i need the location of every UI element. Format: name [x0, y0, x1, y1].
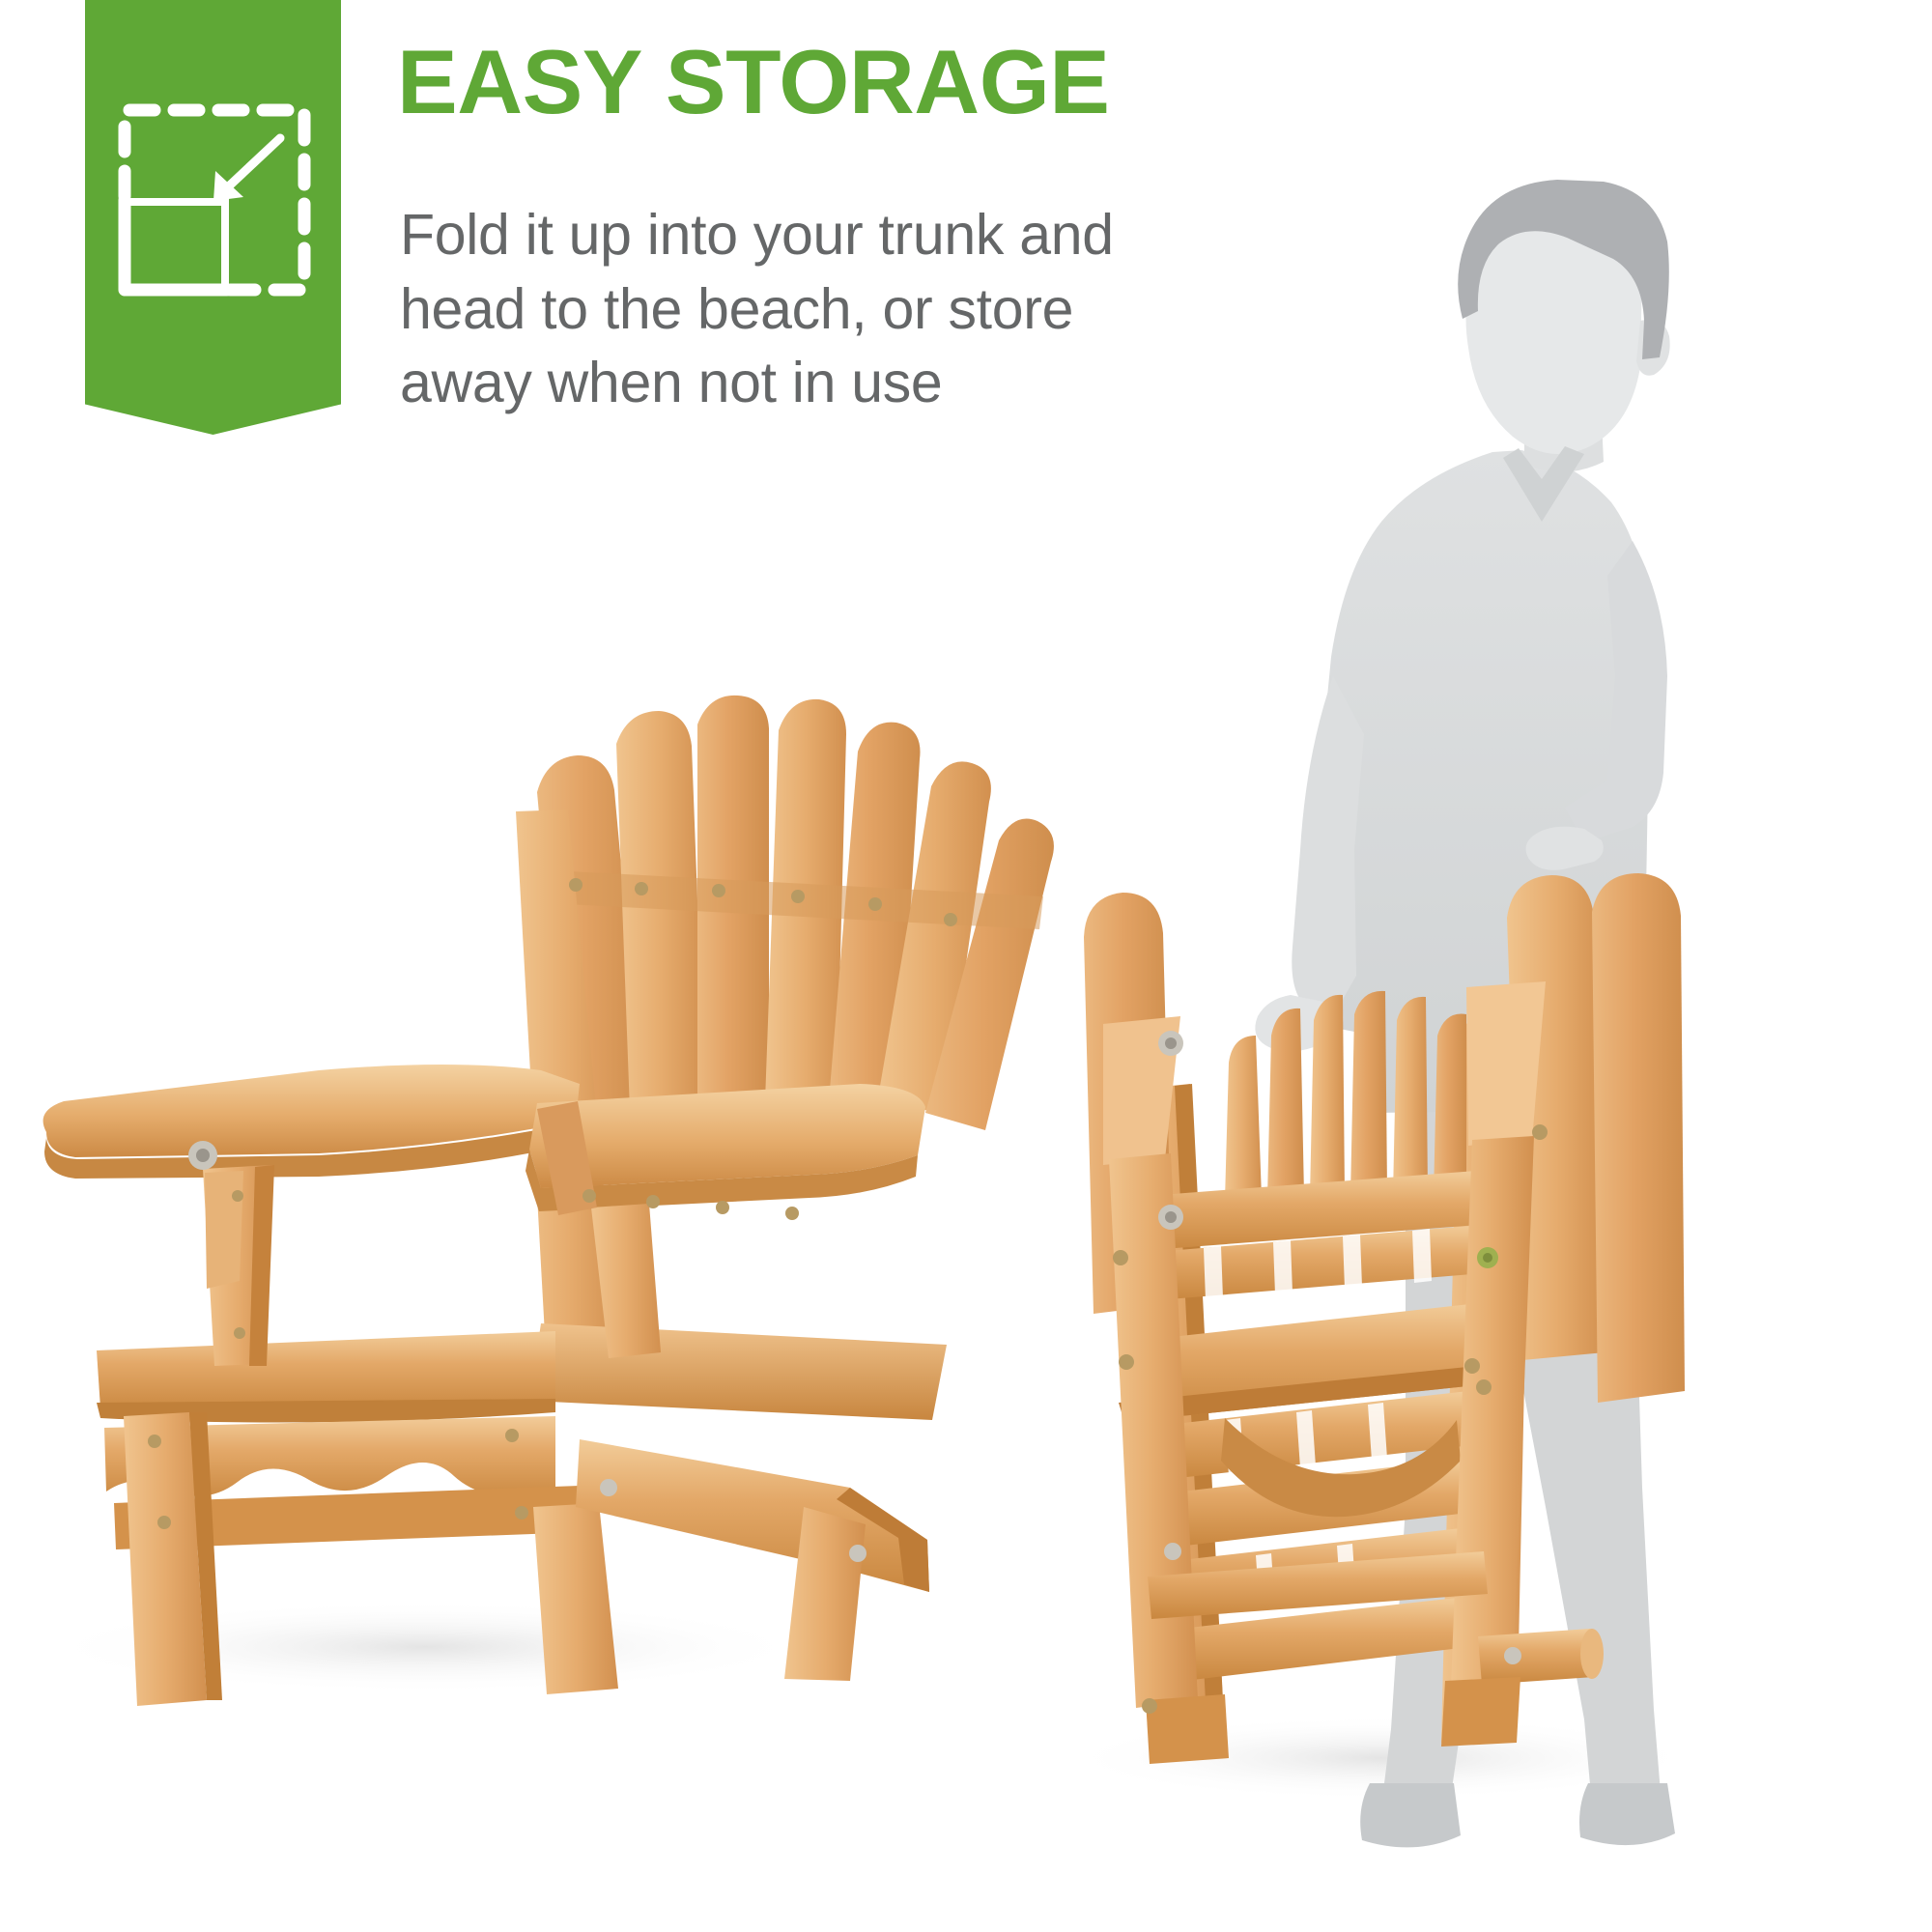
- screw: [600, 1479, 617, 1496]
- fan-slat-2: [1267, 1009, 1304, 1198]
- screw: [505, 1429, 519, 1442]
- screw: [868, 897, 882, 911]
- folded-lower-slats: [1157, 1391, 1472, 1681]
- screw: [849, 1545, 867, 1562]
- screw: [157, 1516, 171, 1529]
- screw: [1504, 1647, 1521, 1664]
- screw: [582, 1189, 596, 1203]
- screw: [569, 878, 582, 892]
- screw: [791, 890, 805, 903]
- screw: [1165, 1211, 1177, 1223]
- person-shoe-right: [1579, 1783, 1675, 1845]
- band-gap-4: [1412, 1229, 1432, 1283]
- product-illustration: [0, 0, 1932, 1932]
- chair-folded: [1084, 873, 1685, 1764]
- screw: [196, 1149, 210, 1162]
- folded-armrest-right: [1592, 873, 1685, 1403]
- screw: [1119, 1354, 1134, 1370]
- folded-dowel-cap: [1580, 1629, 1604, 1679]
- screw: [785, 1207, 799, 1220]
- folded-foot-left: [1146, 1694, 1229, 1764]
- screw: [944, 913, 957, 926]
- folded-foot-right: [1441, 1677, 1520, 1747]
- band-gap-2: [1273, 1240, 1293, 1294]
- band-gap-1: [1204, 1246, 1223, 1300]
- screw: [232, 1190, 243, 1202]
- back-slat-2: [616, 711, 705, 1111]
- arm-support-wedge: [205, 1171, 243, 1289]
- screw: [1483, 1253, 1492, 1263]
- screw: [1113, 1250, 1128, 1265]
- screw: [1532, 1124, 1548, 1140]
- fan-slat-5: [1393, 997, 1428, 1194]
- person-arm-right: [1292, 676, 1364, 1016]
- product-feature-card: EASY STORAGE Fold it up into your trunk …: [0, 0, 1932, 1932]
- screw: [712, 884, 725, 897]
- chair-open: [43, 696, 1054, 1706]
- fan-slat-3: [1310, 995, 1345, 1196]
- screw: [234, 1327, 245, 1339]
- screw: [1165, 1037, 1177, 1049]
- fan-slat-4: [1350, 991, 1387, 1194]
- screw: [1464, 1358, 1480, 1374]
- fan-slat-6: [1434, 1013, 1466, 1194]
- screw: [1142, 1698, 1157, 1714]
- person-shoe-left: [1360, 1783, 1461, 1847]
- screw: [635, 882, 648, 895]
- screw: [515, 1506, 528, 1520]
- fan-slat-1: [1225, 1036, 1262, 1200]
- screw: [646, 1195, 660, 1208]
- folded-dowel: [1478, 1629, 1594, 1685]
- screw: [1476, 1379, 1492, 1395]
- seat-platform: [529, 1323, 947, 1420]
- front-leg-right: [533, 1503, 618, 1694]
- band-gap-3: [1343, 1235, 1362, 1289]
- screw: [148, 1435, 161, 1448]
- screw: [716, 1201, 729, 1214]
- screw: [1164, 1543, 1181, 1560]
